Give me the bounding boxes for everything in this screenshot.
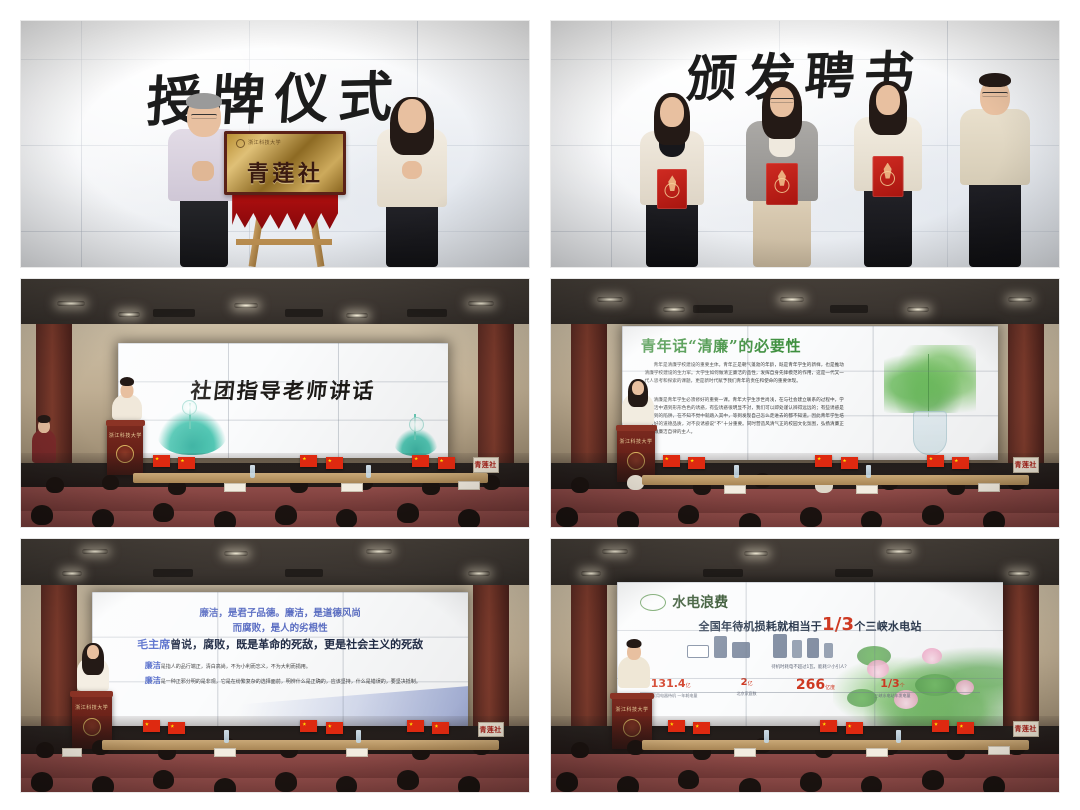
china-flag-icon — [178, 457, 195, 469]
stat-value: 2 — [741, 677, 748, 688]
trousers — [864, 185, 912, 267]
delegate-name-card — [988, 746, 1010, 755]
hair — [626, 639, 641, 648]
ceiling-light — [744, 551, 768, 556]
ceiling-light — [780, 297, 804, 302]
stat-unit: 亿度 — [825, 685, 835, 691]
slide-content: 水电浪费 全国年待机损耗就相当于1/3个三峡水电站 待机时耗电不 — [617, 582, 1003, 726]
delegate-name-card — [458, 481, 480, 490]
ceiling-beam — [285, 309, 323, 317]
audience-head — [397, 503, 419, 523]
china-flag-icon — [153, 455, 170, 467]
auditorium-scene: 青年话“清廉”的必要性 青年是清廉学校建设的重要主体。青年正是朝气蓬勃的年龄，既… — [551, 279, 1059, 527]
front-table — [642, 475, 1028, 485]
china-flag-icon — [815, 455, 832, 467]
society-name-card: 青莲社 — [1013, 721, 1039, 737]
delegate-name-card — [224, 483, 246, 492]
lotus-decor-icon — [157, 409, 227, 455]
ceiling-light — [663, 307, 685, 312]
audience-head — [458, 776, 480, 792]
easel-crossbar — [236, 239, 332, 245]
plant-decor-icon — [884, 345, 976, 455]
slide-headline-line-1: 廉洁，是君子品德。廉洁，是道德风尚 — [92, 607, 468, 622]
ceiling-light — [468, 301, 494, 306]
audience-head — [617, 511, 639, 527]
photo-panel-integrity-lecture: 青年话“清廉”的必要性 青年是清廉学校建设的重要主体。青年正是朝气蓬勃的年龄，既… — [550, 278, 1060, 528]
face — [632, 381, 644, 395]
delegate-name-card — [214, 748, 236, 757]
appliance-building-icon — [807, 638, 819, 658]
wall-column-left — [571, 324, 607, 463]
china-flag-icon — [143, 720, 160, 732]
china-flag-icon — [300, 720, 317, 732]
china-flag-icon — [326, 722, 343, 734]
audience-head — [983, 511, 1005, 527]
glasses-icon — [191, 114, 217, 119]
slide-statistics-row: 131.4亿 广东家用电器待机 一年耗电量 2亿 北京家庭数 266亿度 — [644, 677, 910, 699]
audience-head — [31, 772, 53, 792]
front-table — [102, 740, 498, 750]
stat-caption: 北京家庭数 — [737, 691, 757, 697]
wall-column-left — [571, 585, 607, 727]
appointment-certificate — [657, 169, 687, 209]
audience-head — [214, 511, 236, 527]
podium-top — [106, 420, 145, 425]
lotus-flower — [922, 648, 942, 664]
audience-head — [861, 776, 882, 792]
projection-screen: 廉洁，是君子品德。廉洁，是道德风尚 而腐败，是人的劣根性 毛主席曾说，腐败，既是… — [92, 592, 468, 726]
projection-screen: 社团指导老师讲话 — [118, 343, 448, 457]
audience-head — [800, 507, 822, 527]
plant-foliage — [884, 345, 976, 413]
podium-top — [616, 425, 657, 431]
audience-head — [678, 770, 699, 789]
slide-paragraph-1: 青年是清廉学校建设的重要主体。青年正是朝气蓬勃的年龄，既是青年学生的新样，也是推… — [645, 362, 844, 386]
appliance-icon-row — [687, 634, 833, 658]
glasses-icon — [770, 98, 794, 103]
delegate-name-card — [62, 748, 82, 757]
person-recipient-3 — [846, 81, 930, 267]
ceiling-light — [346, 313, 368, 318]
ceiling-light — [224, 551, 248, 556]
audience-area: 青莲社 — [551, 716, 1059, 792]
photo-panel-advisor-speech: 社团指导老师讲话 浙江科技大学 — [20, 278, 530, 528]
china-flag-icon — [407, 720, 424, 732]
photo-panel-utility-waste: 水电浪费 全国年待机损耗就相当于1/3个三峡水电站 待机时耗电不 — [550, 538, 1060, 793]
plaque-subtitle: 浙江科技大学 — [248, 139, 281, 146]
glasses-icon — [982, 92, 1008, 97]
society-name-card: 青莲社 — [1013, 457, 1039, 473]
slide-content: 社团指导老师讲话 — [118, 343, 448, 457]
audience-head — [153, 503, 174, 522]
bubble-text: 水电浪费 — [672, 592, 728, 612]
society-plaque: 浙江科技大学 青莲社 — [224, 131, 346, 195]
stat-item: 2亿 北京家庭数 — [737, 677, 757, 697]
china-flag-icon — [927, 455, 944, 467]
face — [398, 99, 426, 133]
vase — [913, 411, 947, 455]
body-keyword: 廉洁 — [145, 661, 161, 670]
audience-head — [556, 507, 578, 527]
society-name-card: 青莲社 — [478, 722, 504, 737]
stat-item: 266亿度 — [796, 677, 835, 696]
china-flag-icon — [168, 722, 185, 734]
ceiling-light — [1008, 297, 1032, 302]
china-flag-icon — [326, 457, 343, 469]
slide-quote: 毛主席曾说，腐败，既是革命的死敌，更是社会主义的死敌 — [92, 636, 468, 652]
photo-panel-plaque-ceremony: 授牌仪式 浙江科技大学 青莲社 — [20, 20, 530, 268]
water-bottle — [250, 465, 255, 478]
appliance-building-icon — [773, 634, 787, 658]
photo-panel-integrity-quote: 廉洁，是君子品德。廉洁，是道德风尚 而腐败，是人的劣根性 毛主席曾说，腐败，既是… — [20, 538, 530, 793]
audience-head — [102, 475, 119, 490]
water-bottle — [356, 730, 361, 743]
audience-area: 青莲社 — [21, 716, 529, 792]
face — [660, 97, 684, 127]
face — [876, 85, 900, 115]
skirt — [646, 199, 698, 267]
podium-university-text: 浙江科技大学 — [107, 432, 143, 439]
podium-university-text: 浙江科技大学 — [612, 706, 652, 713]
headline-highlight: 1/3 — [822, 614, 854, 635]
projection-screen: 青年话“清廉”的必要性 青年是清廉学校建设的重要主体。青年正是朝气蓬勃的年龄，既… — [622, 326, 998, 460]
ceiling-beam — [153, 309, 195, 317]
audience-head — [92, 509, 114, 527]
appointment-certificate — [766, 163, 798, 205]
appliance-fridge-icon — [714, 636, 727, 658]
water-bottle — [224, 730, 229, 743]
podium-top — [70, 691, 113, 697]
audience-head — [800, 772, 822, 792]
person-official — [952, 77, 1038, 267]
china-flag-icon — [957, 722, 974, 734]
china-flag-icon — [663, 455, 680, 467]
ceiling-light — [907, 307, 929, 312]
ceiling-beam — [285, 569, 323, 577]
slide-paragraph-2: 清廉是青年学生必须修好的重要一课。青年大学生涉世尚浅，在与社会建立联系的过程中，… — [645, 397, 844, 437]
slide-headline-line-2: 而腐败，是人的劣根性 — [92, 622, 468, 637]
china-flag-icon — [412, 455, 429, 467]
water-bottle — [866, 465, 871, 478]
skirt — [753, 195, 811, 267]
delegate-name-card — [724, 485, 746, 494]
ceiling-light — [597, 297, 623, 302]
audience-head — [617, 776, 639, 792]
slide-headline: 廉洁，是君子品德。廉洁，是道德风尚 而腐败，是人的劣根性 — [92, 607, 468, 636]
audience-head — [739, 778, 761, 792]
person-speaker — [620, 369, 656, 425]
speaker-top — [618, 656, 650, 688]
slide-title: 青年话“清廉”的必要性 — [641, 335, 802, 356]
ceiling-light — [366, 549, 392, 554]
audience-area: 青莲社 — [21, 453, 529, 527]
slide-body-line-1: 廉洁是指人的品行端正，清白高尚，不为小利而忘义，不为大利而捐用。 — [145, 659, 431, 673]
stat-value: 131.4 — [651, 677, 686, 690]
red-drape — [232, 191, 338, 231]
ceiling-beam — [153, 569, 193, 577]
slide-body: 廉洁是指人的品行端正，清白高尚，不为小利而忘义，不为大利而捐用。 廉洁是一种正邪… — [145, 659, 431, 688]
china-flag-icon — [693, 722, 710, 734]
stat-item: 1/3个 三峡水电站年发电量 — [874, 677, 910, 699]
audience-head — [214, 778, 236, 792]
ceiling-beam — [693, 305, 733, 313]
audience-head — [397, 770, 419, 790]
china-flag-icon — [841, 457, 858, 469]
delegate-name-card — [734, 748, 756, 757]
plaque-on-easel: 浙江科技大学 青莲社 — [220, 127, 350, 267]
audience-head — [571, 477, 589, 493]
photo-collage: 授牌仪式 浙江科技大学 青莲社 — [0, 0, 1080, 810]
china-flag-icon — [432, 722, 449, 734]
delegate-name-card — [341, 483, 363, 492]
china-flag-icon — [668, 720, 685, 732]
ceiling-light — [57, 301, 85, 306]
china-flag-icon — [952, 457, 969, 469]
hair — [38, 415, 51, 423]
ceiling-light — [1008, 571, 1030, 576]
auditorium-scene: 廉洁，是君子品德。廉洁，是道德风尚 而腐败，是人的劣根性 毛主席曾说，腐败，既是… — [21, 539, 529, 792]
headline-prefix: 全国年待机损耗就相当于 — [699, 620, 822, 633]
podium-university-text: 浙江科技大学 — [617, 438, 655, 445]
china-flag-icon — [300, 455, 317, 467]
stat-value: 1/3 — [880, 677, 899, 690]
quote-speaker: 毛主席 — [137, 638, 170, 651]
audience-head — [275, 772, 297, 792]
person-speaker — [110, 374, 144, 420]
bubble-ring-icon — [640, 594, 666, 611]
audience-head — [275, 505, 297, 525]
quote-text: 曾说，腐败，既是革命的死敌，更是社会主义的死敌 — [170, 638, 423, 651]
china-flag-icon — [846, 722, 863, 734]
person-female-leader — [366, 102, 458, 267]
university-emblem-icon — [236, 139, 245, 148]
front-table — [133, 473, 489, 483]
ceiling-light — [82, 549, 108, 554]
slide-subnote: 待机时耗电不超过1瓦，能耗少小引人？ — [617, 664, 1003, 670]
water-bottle — [896, 730, 901, 743]
appointment-certificate — [872, 156, 903, 197]
ceiling-light — [118, 312, 140, 317]
slide-title: 社团指导老师讲话 — [118, 375, 448, 405]
hair-bun — [120, 377, 134, 386]
ceiling-light — [886, 549, 912, 554]
audience-head — [153, 770, 174, 789]
delegate-name-card — [856, 485, 878, 494]
audience-head — [678, 505, 699, 524]
audience-head — [922, 505, 944, 525]
appliance-washer-icon — [732, 642, 750, 658]
audience-head — [458, 509, 480, 527]
ceiling-light — [62, 571, 82, 576]
audience-area: 青莲社 — [551, 453, 1059, 527]
ceiling-light — [602, 549, 628, 554]
appliance-building-icon — [824, 643, 833, 658]
ceiling-beam — [703, 569, 743, 577]
water-bottle — [366, 465, 371, 478]
slide-content: 廉洁，是君子品德。廉洁，是道德风尚 而腐败，是人的劣根性 毛主席曾说，腐败，既是… — [92, 592, 468, 726]
person-speaker — [74, 633, 112, 691]
ceiling-light — [581, 571, 601, 576]
slide-body-line-2: 廉洁是一种正邪分明的是非观，它是在纷繁复杂的选择面前，明辨什么是正确的，应该坚持… — [145, 674, 431, 688]
auditorium-scene: 水电浪费 全国年待机损耗就相当于1/3个三峡水电站 待机时耗电不 — [551, 539, 1059, 792]
wall-column-right — [478, 324, 514, 463]
slide-bubble-label: 水电浪费 — [640, 592, 728, 612]
shirt — [960, 109, 1030, 185]
podium-top — [610, 693, 653, 699]
audience-head — [336, 509, 357, 527]
auditorium-scene: 社团指导老师讲话 浙江科技大学 — [21, 279, 529, 527]
delegate-name-card — [978, 483, 1000, 492]
delegate-name-card — [346, 748, 368, 757]
ceiling-beam — [407, 309, 447, 317]
audience-head — [336, 776, 357, 792]
wall-column-right — [1003, 585, 1039, 727]
photo-panel-appointment-letters: 颁发聘书 — [550, 20, 1060, 268]
person-recipient-2 — [739, 79, 825, 267]
china-flag-icon — [688, 457, 705, 469]
stat-caption: 三峡水电站年发电量 — [874, 693, 910, 699]
audience-head — [46, 477, 64, 493]
clapping-hands — [402, 161, 422, 179]
audience-head — [922, 770, 944, 790]
ceiling-light — [468, 571, 490, 576]
stat-unit: 亿 — [686, 683, 691, 689]
audience-head — [861, 511, 882, 527]
ceiling-beam — [835, 569, 873, 577]
plant-stem — [928, 354, 929, 418]
ceiling-light — [234, 303, 258, 308]
audience-head — [36, 742, 54, 758]
stat-value: 266 — [796, 677, 825, 693]
delegate-name-card — [866, 748, 888, 757]
trousers — [969, 179, 1021, 267]
front-table — [642, 740, 1028, 750]
stat-unit: 个 — [900, 683, 905, 689]
wall-column-right — [1008, 324, 1044, 463]
slide-content: 青年话“清廉”的必要性 青年是清廉学校建设的重要主体。青年正是朝气蓬勃的年龄，既… — [622, 326, 998, 460]
audience-head — [92, 776, 114, 792]
hair — [979, 73, 1011, 87]
body-text: 是指人的品行端正，清白高尚，不为小利而忘义，不为大利而捐用。 — [161, 664, 311, 670]
ceiling-beam — [830, 305, 868, 313]
china-flag-icon — [438, 457, 455, 469]
audience-head — [31, 505, 53, 525]
slide-headline: 全国年待机损耗就相当于1/3个三峡水电站 — [617, 614, 1003, 635]
hair — [186, 93, 222, 109]
audience-head — [983, 776, 1005, 792]
china-flag-icon — [932, 720, 949, 732]
wall-column-right — [473, 585, 509, 727]
person-speaker — [615, 632, 653, 688]
society-name-card: 青莲社 — [473, 457, 499, 473]
stat-unit: 亿 — [748, 681, 753, 687]
water-bottle — [764, 730, 769, 743]
podium-university-text: 浙江科技大学 — [72, 704, 112, 711]
headline-suffix: 个三峡水电站 — [854, 620, 921, 633]
clapping-hands — [192, 161, 214, 181]
body-text: 是一种正邪分明的是非观，它是在纷繁复杂的选择面前，明辨什么是正确的，应该坚持，什… — [161, 679, 421, 685]
appliance-tv-icon — [687, 645, 709, 658]
plaque-society-name: 青莲社 — [227, 156, 343, 188]
projection-screen: 水电浪费 全国年待机损耗就相当于1/3个三峡水电站 待机时耗电不 — [617, 582, 1003, 726]
body-keyword: 廉洁 — [145, 676, 161, 685]
skirt — [386, 201, 438, 267]
china-flag-icon — [820, 720, 837, 732]
audience-head — [571, 742, 589, 758]
appliance-building-icon — [792, 640, 802, 658]
lotus-pad — [915, 674, 955, 696]
water-bottle — [734, 465, 739, 478]
audience-head — [556, 772, 578, 792]
face — [87, 645, 99, 659]
person-recipient-1 — [632, 92, 712, 267]
